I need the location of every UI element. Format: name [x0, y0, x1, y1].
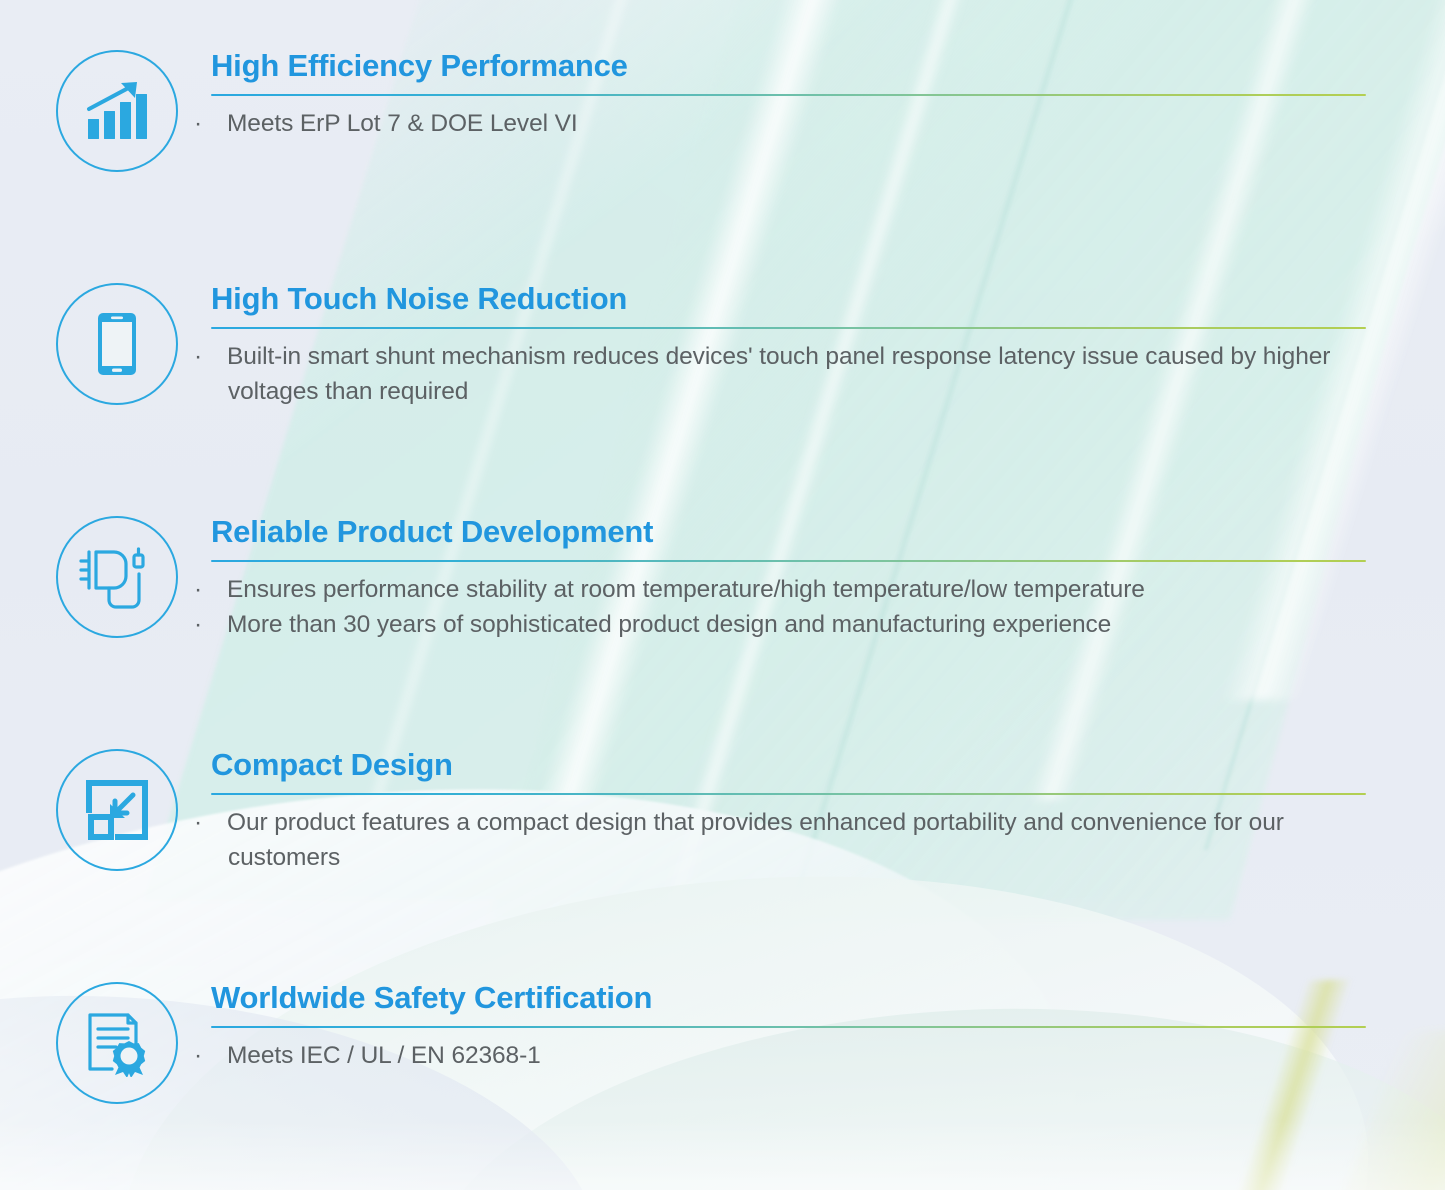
bullet-item: ·Built-in smart shunt mechanism reduces …	[211, 340, 1371, 410]
feature-text-block: Compact Design ·Our product features a c…	[211, 747, 1371, 876]
feature-bullets: ·Meets IEC / UL / EN 62368-1	[211, 1039, 1371, 1074]
bullet-item: ·Ensures performance stability at room t…	[211, 573, 1371, 608]
bullet-text: More than 30 years of sophisticated prod…	[227, 611, 1111, 638]
feature-text-block: High Touch Noise Reduction ·Built-in sma…	[211, 281, 1371, 410]
bar-chart-growth-icon	[56, 50, 178, 172]
bullet-text: Our product features a compact design th…	[227, 809, 1284, 871]
bullet-marker: ·	[211, 608, 227, 643]
feature-title: High Touch Noise Reduction	[211, 281, 1371, 317]
bullet-text: Meets IEC / UL / EN 62368-1	[227, 1042, 541, 1069]
compact-resize-icon	[56, 749, 178, 871]
bullet-text: Built-in smart shunt mechanism reduces d…	[227, 343, 1330, 405]
bullet-text: Meets ErP Lot 7 & DOE Level VI	[227, 110, 578, 137]
bullet-item: ·Meets IEC / UL / EN 62368-1	[211, 1039, 1371, 1074]
title-divider	[211, 560, 1366, 563]
bullet-marker: ·	[211, 806, 227, 841]
title-divider	[211, 793, 1366, 796]
feature-bullets: ·Ensures performance stability at room t…	[211, 573, 1371, 643]
bullet-marker: ·	[211, 1039, 227, 1074]
bullet-marker: ·	[211, 573, 227, 608]
feature-title: Worldwide Safety Certification	[211, 980, 1371, 1016]
feature-bullets: ·Built-in smart shunt mechanism reduces …	[211, 340, 1371, 410]
title-divider	[211, 1026, 1366, 1029]
bullet-text: Ensures performance stability at room te…	[227, 576, 1145, 603]
certificate-seal-icon	[56, 982, 178, 1104]
power-adapter-icon	[56, 516, 178, 638]
bullet-item: ·Our product features a compact design t…	[211, 806, 1371, 876]
bottom-fade	[0, 1120, 1445, 1190]
bullet-marker: ·	[211, 107, 227, 142]
feature-title: High Efficiency Performance	[211, 48, 1371, 84]
bullet-marker: ·	[211, 340, 227, 375]
bullet-item: ·Meets ErP Lot 7 & DOE Level VI	[211, 107, 1371, 142]
smartphone-icon	[56, 283, 178, 405]
title-divider	[211, 327, 1366, 330]
feature-title: Compact Design	[211, 747, 1371, 783]
feature-text-block: High Efficiency Performance ·Meets ErP L…	[211, 48, 1371, 142]
feature-text-block: Reliable Product Development ·Ensures pe…	[211, 514, 1371, 643]
feature-bullets: ·Meets ErP Lot 7 & DOE Level VI	[211, 107, 1371, 142]
title-divider	[211, 94, 1366, 97]
feature-bullets: ·Our product features a compact design t…	[211, 806, 1371, 876]
feature-list-page: High Efficiency Performance ·Meets ErP L…	[0, 0, 1445, 1190]
feature-text-block: Worldwide Safety Certification ·Meets IE…	[211, 980, 1371, 1074]
bullet-item: ·More than 30 years of sophisticated pro…	[211, 608, 1371, 643]
feature-title: Reliable Product Development	[211, 514, 1371, 550]
